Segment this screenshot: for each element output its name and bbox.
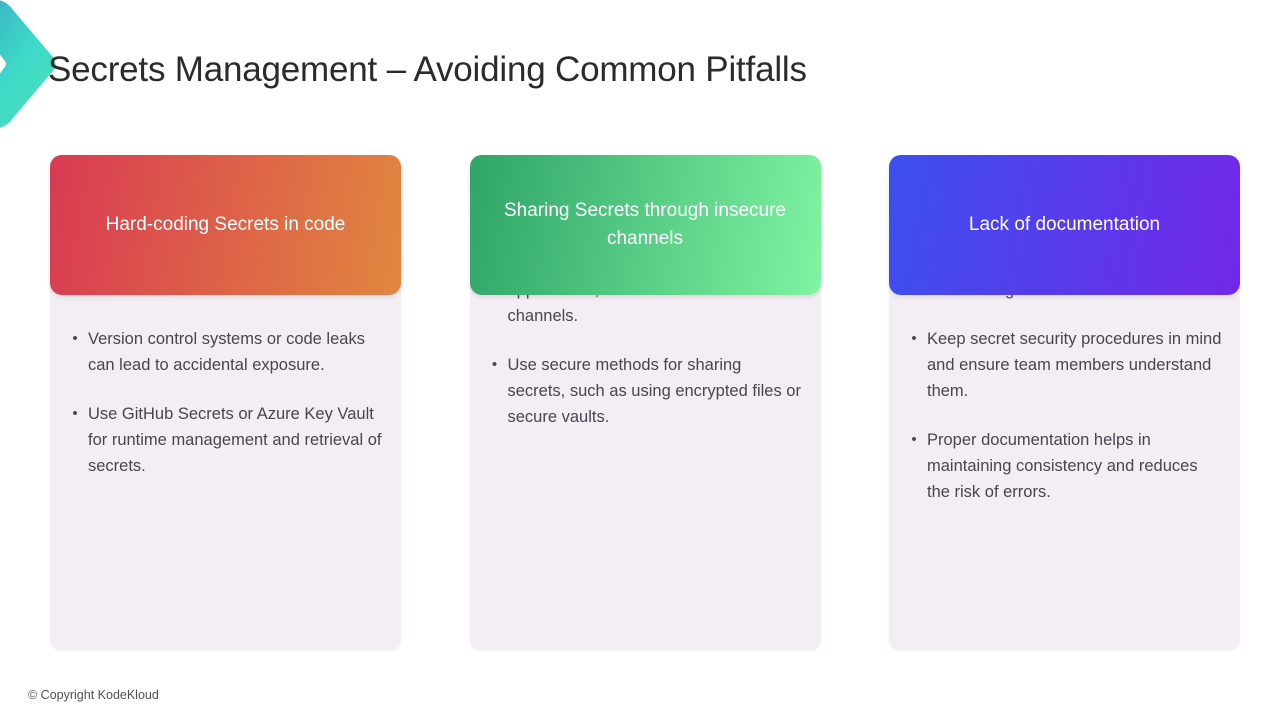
bullet-dot-icon: •: [482, 352, 508, 378]
page-title: Secrets Management – Avoiding Common Pit…: [48, 50, 807, 90]
copyright-footer: © Copyright KodeKloud: [28, 688, 159, 702]
card-header-3: Lack of documentation: [889, 155, 1240, 295]
card-header-2: Sharing Secrets through insecure channel…: [470, 155, 821, 295]
card-header-title: Lack of documentation: [969, 211, 1160, 240]
bullet-text: Use GitHub Secrets or Azure Key Vault fo…: [88, 401, 383, 479]
bullet-text: Use secure methods for sharing secrets, …: [508, 352, 803, 430]
bullet-dot-icon: •: [901, 326, 927, 352]
list-item: • Proper documentation helps in maintain…: [901, 427, 1222, 505]
pitfall-card-3: • Document the process for managing and …: [889, 155, 1240, 650]
bullet-text: Keep secret security procedures in mind …: [927, 326, 1222, 404]
card-header-1: Hard-coding Secrets in code: [50, 155, 401, 295]
list-item: • Keep secret security procedures in min…: [901, 326, 1222, 404]
list-item: • Use GitHub Secrets or Azure Key Vault …: [62, 401, 383, 479]
card-header-title: Hard-coding Secrets in code: [106, 211, 346, 240]
bullet-text: Proper documentation helps in maintainin…: [927, 427, 1222, 505]
bullet-dot-icon: •: [62, 326, 88, 352]
card-header-title: Sharing Secrets through insecure channel…: [488, 197, 803, 254]
bullet-dot-icon: •: [62, 401, 88, 427]
pitfall-card-1: • Avoid embedding secrets directly in so…: [50, 155, 401, 650]
bullet-text: Version control systems or code leaks ca…: [88, 326, 383, 378]
card-row: • Avoid embedding secrets directly in so…: [50, 155, 1240, 650]
list-item: • Version control systems or code leaks …: [62, 326, 383, 378]
list-item: • Use secure methods for sharing secrets…: [482, 352, 803, 430]
pitfall-card-2: • Do not share secrets via email, chat a…: [470, 155, 821, 650]
bullet-dot-icon: •: [901, 427, 927, 453]
